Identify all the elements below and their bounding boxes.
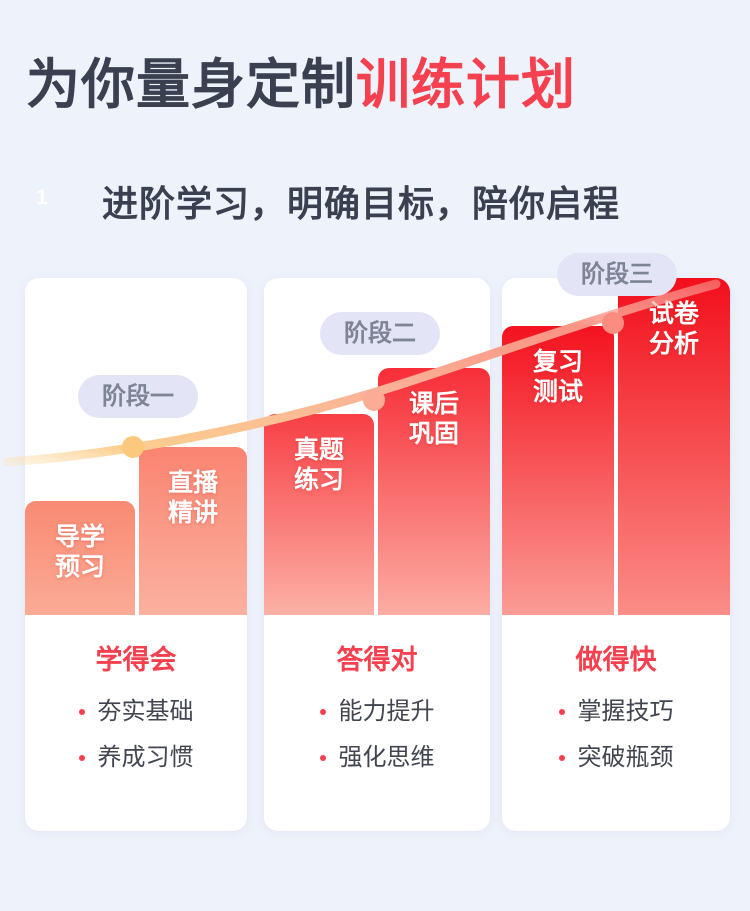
bar-label: 真题 练习 (294, 436, 344, 495)
page-title-dark: 为你量身定制 (26, 55, 356, 115)
page-title-accent: 训练计划 (356, 55, 576, 115)
bar-label: 试卷 分析 (649, 300, 699, 359)
summary-title: 学得会 (96, 647, 177, 674)
bar-zhenti-lianxi[interactable]: 真题 练习 (264, 414, 374, 615)
stage-badge-2: 阶段二 (320, 312, 440, 355)
bar-shijuan-fenxi[interactable]: 试卷 分析 (618, 278, 730, 615)
subtitle-row: 1 进阶学习，明确目标，陪你启程 (22, 172, 620, 236)
infographic-canvas: 为你量身定制训练计划 1 进阶学习，明确目标，陪你启程 导学 预习 直播 精讲 … (0, 0, 750, 911)
list-item-label: 强化思维 (339, 746, 435, 770)
list-item: 能力提升 (320, 700, 435, 724)
bar-label: 导学 预习 (55, 523, 105, 582)
stage-3-summary: 做得快 掌握技巧 突破瓶颈 (502, 615, 730, 831)
bullet-dot-icon (559, 709, 565, 715)
bar-daoxue-yuxi[interactable]: 导学 预习 (25, 501, 135, 615)
list-item: 养成习惯 (79, 746, 194, 770)
bar-zhibo-jingjiang[interactable]: 直播 精讲 (139, 447, 247, 615)
step-number: 1 (36, 187, 48, 208)
stage-card-2[interactable]: 真题 练习 课后 巩固 答得对 能力提升 强化思维 (264, 278, 490, 831)
list-item-label: 夯实基础 (98, 700, 194, 724)
stage-1-bars: 导学 预习 直播 精讲 (25, 278, 247, 615)
list-item-label: 突破瓶颈 (578, 746, 674, 770)
list-item-label: 养成习惯 (98, 746, 194, 770)
stage-card-1[interactable]: 导学 预习 直播 精讲 学得会 夯实基础 养成习惯 (25, 278, 247, 831)
summary-title: 答得对 (337, 647, 418, 674)
bullet-dot-icon (559, 755, 565, 761)
list-item-label: 掌握技巧 (578, 700, 674, 724)
stage-badge-3: 阶段三 (557, 253, 677, 296)
bullet-dot-icon (320, 709, 326, 715)
list-item-label: 能力提升 (339, 700, 435, 724)
list-item: 强化思维 (320, 746, 435, 770)
stage-1-summary: 学得会 夯实基础 养成习惯 (25, 615, 247, 831)
list-item: 夯实基础 (79, 700, 194, 724)
page-title: 为你量身定制训练计划 (26, 58, 576, 112)
stage-badge-1: 阶段一 (78, 375, 198, 418)
summary-title: 做得快 (576, 647, 657, 674)
list-item: 掌握技巧 (559, 700, 674, 724)
stage-card-3[interactable]: 复习 测试 试卷 分析 做得快 掌握技巧 突破瓶颈 (502, 278, 730, 831)
bar-label: 课后 巩固 (409, 390, 459, 449)
bullet-dot-icon (79, 755, 85, 761)
subtitle-text: 进阶学习，明确目标，陪你启程 (102, 186, 620, 222)
bullet-dot-icon (320, 755, 326, 761)
bar-kehou-gonggu[interactable]: 课后 巩固 (378, 368, 490, 615)
bar-label: 直播 精讲 (168, 469, 218, 528)
bar-fuxi-ceshi[interactable]: 复习 测试 (502, 326, 614, 615)
bar-label: 复习 测试 (533, 348, 583, 407)
bullet-dot-icon (79, 709, 85, 715)
play-triangle-icon: 1 (22, 173, 96, 235)
list-item: 突破瓶颈 (559, 746, 674, 770)
stage-2-summary: 答得对 能力提升 强化思维 (264, 615, 490, 831)
stage-3-bars: 复习 测试 试卷 分析 (502, 278, 730, 615)
